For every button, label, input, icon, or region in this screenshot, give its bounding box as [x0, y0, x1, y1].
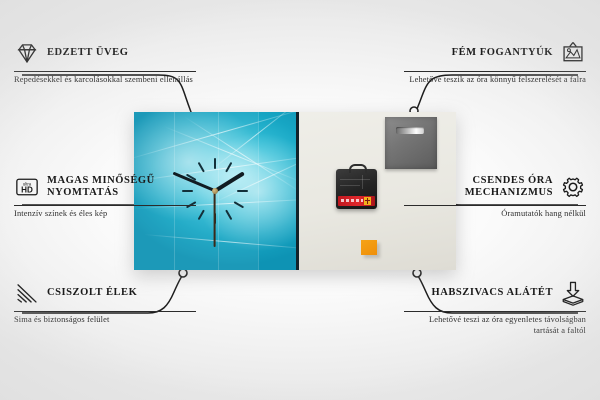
- callout-title: HABSZIVACS ALÁTÉT: [404, 287, 553, 300]
- callout-title: FÉM FOGANTYÚK: [404, 47, 553, 60]
- clock-second-hand: [214, 191, 216, 247]
- hanger-slot: [396, 127, 424, 134]
- callout-subtitle: Repedésekkel és karcolásokkal szembeni e…: [14, 75, 196, 86]
- callout-divider: [404, 71, 586, 72]
- ultra-hd-icon: ultra HD: [14, 174, 40, 200]
- svg-text:HD: HD: [21, 186, 33, 195]
- callout-title: CSISZOLT ÉLEK: [47, 287, 196, 300]
- clock-center-hub: [212, 188, 218, 194]
- clock-mechanism-box: [336, 169, 377, 209]
- callout-foam-pad: HABSZIVACS ALÁTÉT Lehetővé teszi az óra …: [404, 278, 586, 336]
- diamond-icon: [14, 40, 40, 66]
- callout-subtitle: Sima és biztonságos felület: [14, 315, 196, 326]
- battery-label: [338, 196, 375, 206]
- foam-spacer-pad: [361, 240, 377, 255]
- callout-subtitle: Lehetővé teszi az óra egyenletes távolsá…: [404, 315, 586, 336]
- callout-title: CSENDES ÓRA MECHANIZMUS: [404, 175, 553, 200]
- callout-divider: [14, 205, 196, 206]
- metal-hanger-plate: [385, 117, 437, 169]
- callout-polished-edges: CSISZOLT ÉLEK Sima és biztonságos felüle…: [14, 278, 196, 326]
- callout-subtitle: Óramutatók hang nélkül: [404, 209, 586, 220]
- callout-divider: [14, 71, 196, 72]
- callout-divider: [404, 205, 586, 206]
- callout-divider: [14, 311, 196, 312]
- connector-dot-foam-pad: [413, 269, 421, 277]
- polished-edge-icon: [14, 280, 40, 306]
- callout-silent-clock: CSENDES ÓRA MECHANIZMUS Óramutatók hang …: [404, 172, 586, 220]
- callout-metal-hangers: FÉM FOGANTYÚK Lehetővé teszik az óra kön…: [404, 38, 586, 86]
- callout-hd-print: ultra HD MAGAS MINŐSÉGŰ NYOMTATÁS Intenz…: [14, 172, 196, 220]
- foam-pad-arrow-icon: [560, 280, 586, 306]
- infographic-canvas: EDZETT ÜVEG Repedésekkel és karcolásokka…: [0, 0, 600, 400]
- callout-subtitle: Lehetővé teszik az óra könnyű felszerelé…: [404, 75, 586, 86]
- callout-title: MAGAS MINŐSÉGŰ NYOMTATÁS: [47, 175, 196, 200]
- battery-plus-marker: [364, 197, 371, 205]
- mechanism-hanging-loop: [349, 164, 367, 173]
- picture-hanger-icon: [560, 40, 586, 66]
- callout-title: EDZETT ÜVEG: [47, 47, 196, 60]
- connector-dot-polished-edges: [179, 269, 187, 277]
- callout-divider: [404, 311, 586, 312]
- callout-tempered-glass: EDZETT ÜVEG Repedésekkel és karcolásokka…: [14, 38, 196, 86]
- callout-subtitle: Intenzív színek és éles kép: [14, 209, 196, 220]
- gear-icon: [560, 174, 586, 200]
